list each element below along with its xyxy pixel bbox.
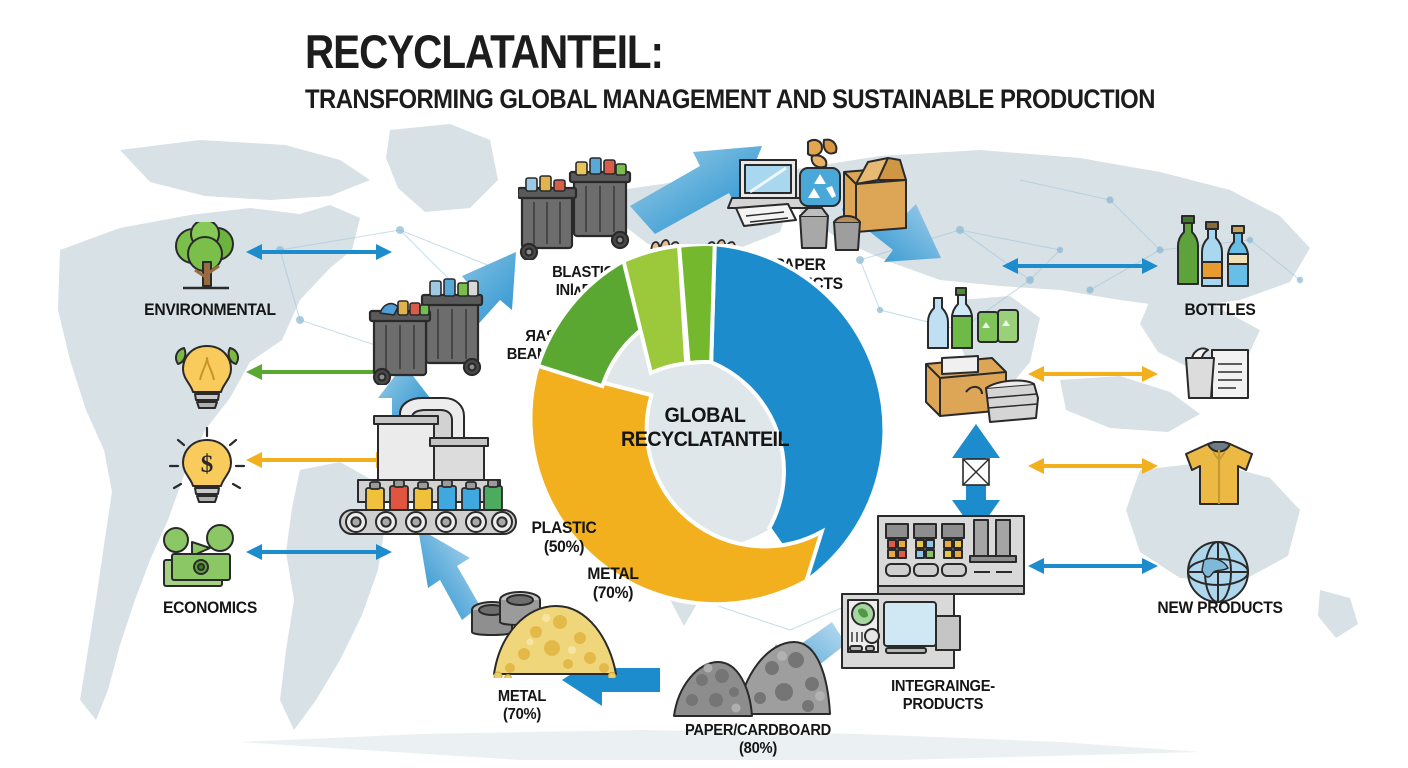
production-plant-conveyor <box>332 392 518 538</box>
global-recycling-donut-chart: GLOBAL RECYCLATANTEIL <box>519 244 891 616</box>
tree-icon <box>163 222 247 298</box>
plastic-rate-label: PLASTIC (50%) <box>500 518 629 556</box>
donut-center-line1: GLOBAL <box>530 404 880 428</box>
bottles-cans-cluster <box>920 286 1040 426</box>
economics-label: ECONOMICS <box>127 598 293 617</box>
money-growth-icon <box>158 524 254 594</box>
waste-bins-lower <box>368 275 494 385</box>
eco-lightbulb-icon <box>168 336 246 414</box>
environmental-label: ENVIRONMENTAL <box>127 300 293 319</box>
paper-bin-icon <box>1180 344 1260 404</box>
infographic-canvas: RECYCLATANTEIL: TRANSFORMING GLOBAL MANA… <box>0 0 1408 768</box>
donut-center-line2: RECYCLATANTEIL <box>530 428 880 452</box>
bottles-icon <box>1176 214 1262 292</box>
tshirt-icon <box>1180 438 1258 508</box>
bottles-label: BOTTLES <box>1146 300 1293 319</box>
money-lightbulb-icon: $ <box>168 426 246 508</box>
new-products-label: NEW PRODUCTS <box>1128 598 1312 617</box>
metal-rate-lower-label: METAL (70%) <box>458 688 587 724</box>
integrainge-products-label: INTEGRAINGE- PRODUCTS <box>856 678 1031 714</box>
gravel-piles <box>672 630 832 720</box>
svg-text:$: $ <box>201 451 214 478</box>
paper-cardboard-rate-label: PAPER/CARDBOARD (80%) <box>659 722 858 758</box>
metal-rate-upper-label: METAL (70%) <box>553 564 673 602</box>
